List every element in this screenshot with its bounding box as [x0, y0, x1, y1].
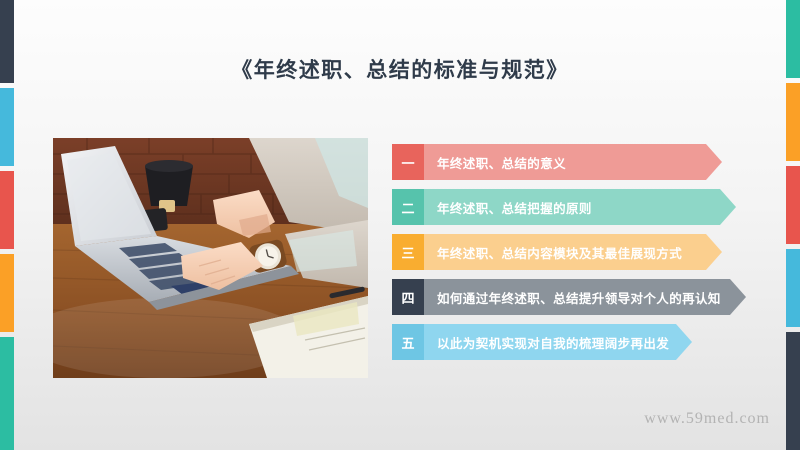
agenda-item-number: 四	[392, 279, 424, 315]
page-title: 《年终述职、总结的标准与规范》	[0, 54, 800, 84]
agenda-item-number: 三	[392, 234, 424, 270]
agenda-list: 一年终述职、总结的意义二年终述职、总结把握的原则三年终述职、总结内容模块及其最佳…	[392, 144, 752, 369]
left-edge-bar-orange	[0, 254, 14, 332]
agenda-item-bar: 一年终述职、总结的意义	[392, 144, 722, 180]
agenda-item-2[interactable]: 二年终述职、总结把握的原则	[392, 189, 752, 225]
right-edge-bar-navy	[786, 332, 800, 450]
right-edge-bar-red	[786, 166, 800, 244]
agenda-item-label: 年终述职、总结的意义	[424, 153, 566, 172]
left-edge-bar-red	[0, 171, 14, 249]
agenda-item-bar: 四如何通过年终述职、总结提升领导对个人的再认知	[392, 279, 746, 315]
agenda-item-number: 五	[392, 324, 424, 360]
agenda-item-bar: 五以此为契机实现对自我的梳理阔步再出发	[392, 324, 692, 360]
agenda-item-label: 年终述职、总结内容模块及其最佳展现方式	[424, 243, 682, 262]
agenda-item-label: 年终述职、总结把握的原则	[424, 198, 592, 217]
agenda-item-3[interactable]: 三年终述职、总结内容模块及其最佳展现方式	[392, 234, 752, 270]
agenda-item-4[interactable]: 四如何通过年终述职、总结提升领导对个人的再认知	[392, 279, 752, 315]
agenda-item-label: 以此为契机实现对自我的梳理阔步再出发	[424, 333, 669, 352]
laptop-photo-illustration	[53, 138, 368, 378]
left-edge-bar-cyan	[0, 88, 14, 166]
agenda-item-1[interactable]: 一年终述职、总结的意义	[392, 144, 752, 180]
right-edge-bar-orange	[786, 83, 800, 161]
agenda-item-bar: 二年终述职、总结把握的原则	[392, 189, 736, 225]
agenda-item-label: 如何通过年终述职、总结提升领导对个人的再认知	[424, 288, 721, 307]
right-edge-bar-cyan	[786, 249, 800, 327]
watermark: www.59med.com	[644, 410, 770, 428]
agenda-item-number: 一	[392, 144, 424, 180]
agenda-item-number: 二	[392, 189, 424, 225]
left-edge-bar-teal	[0, 337, 14, 450]
agenda-item-5[interactable]: 五以此为契机实现对自我的梳理阔步再出发	[392, 324, 752, 360]
slide-title-container: 《年终述职、总结的标准与规范》	[0, 54, 800, 84]
agenda-item-bar: 三年终述职、总结内容模块及其最佳展现方式	[392, 234, 722, 270]
laptop-photo	[53, 138, 368, 378]
